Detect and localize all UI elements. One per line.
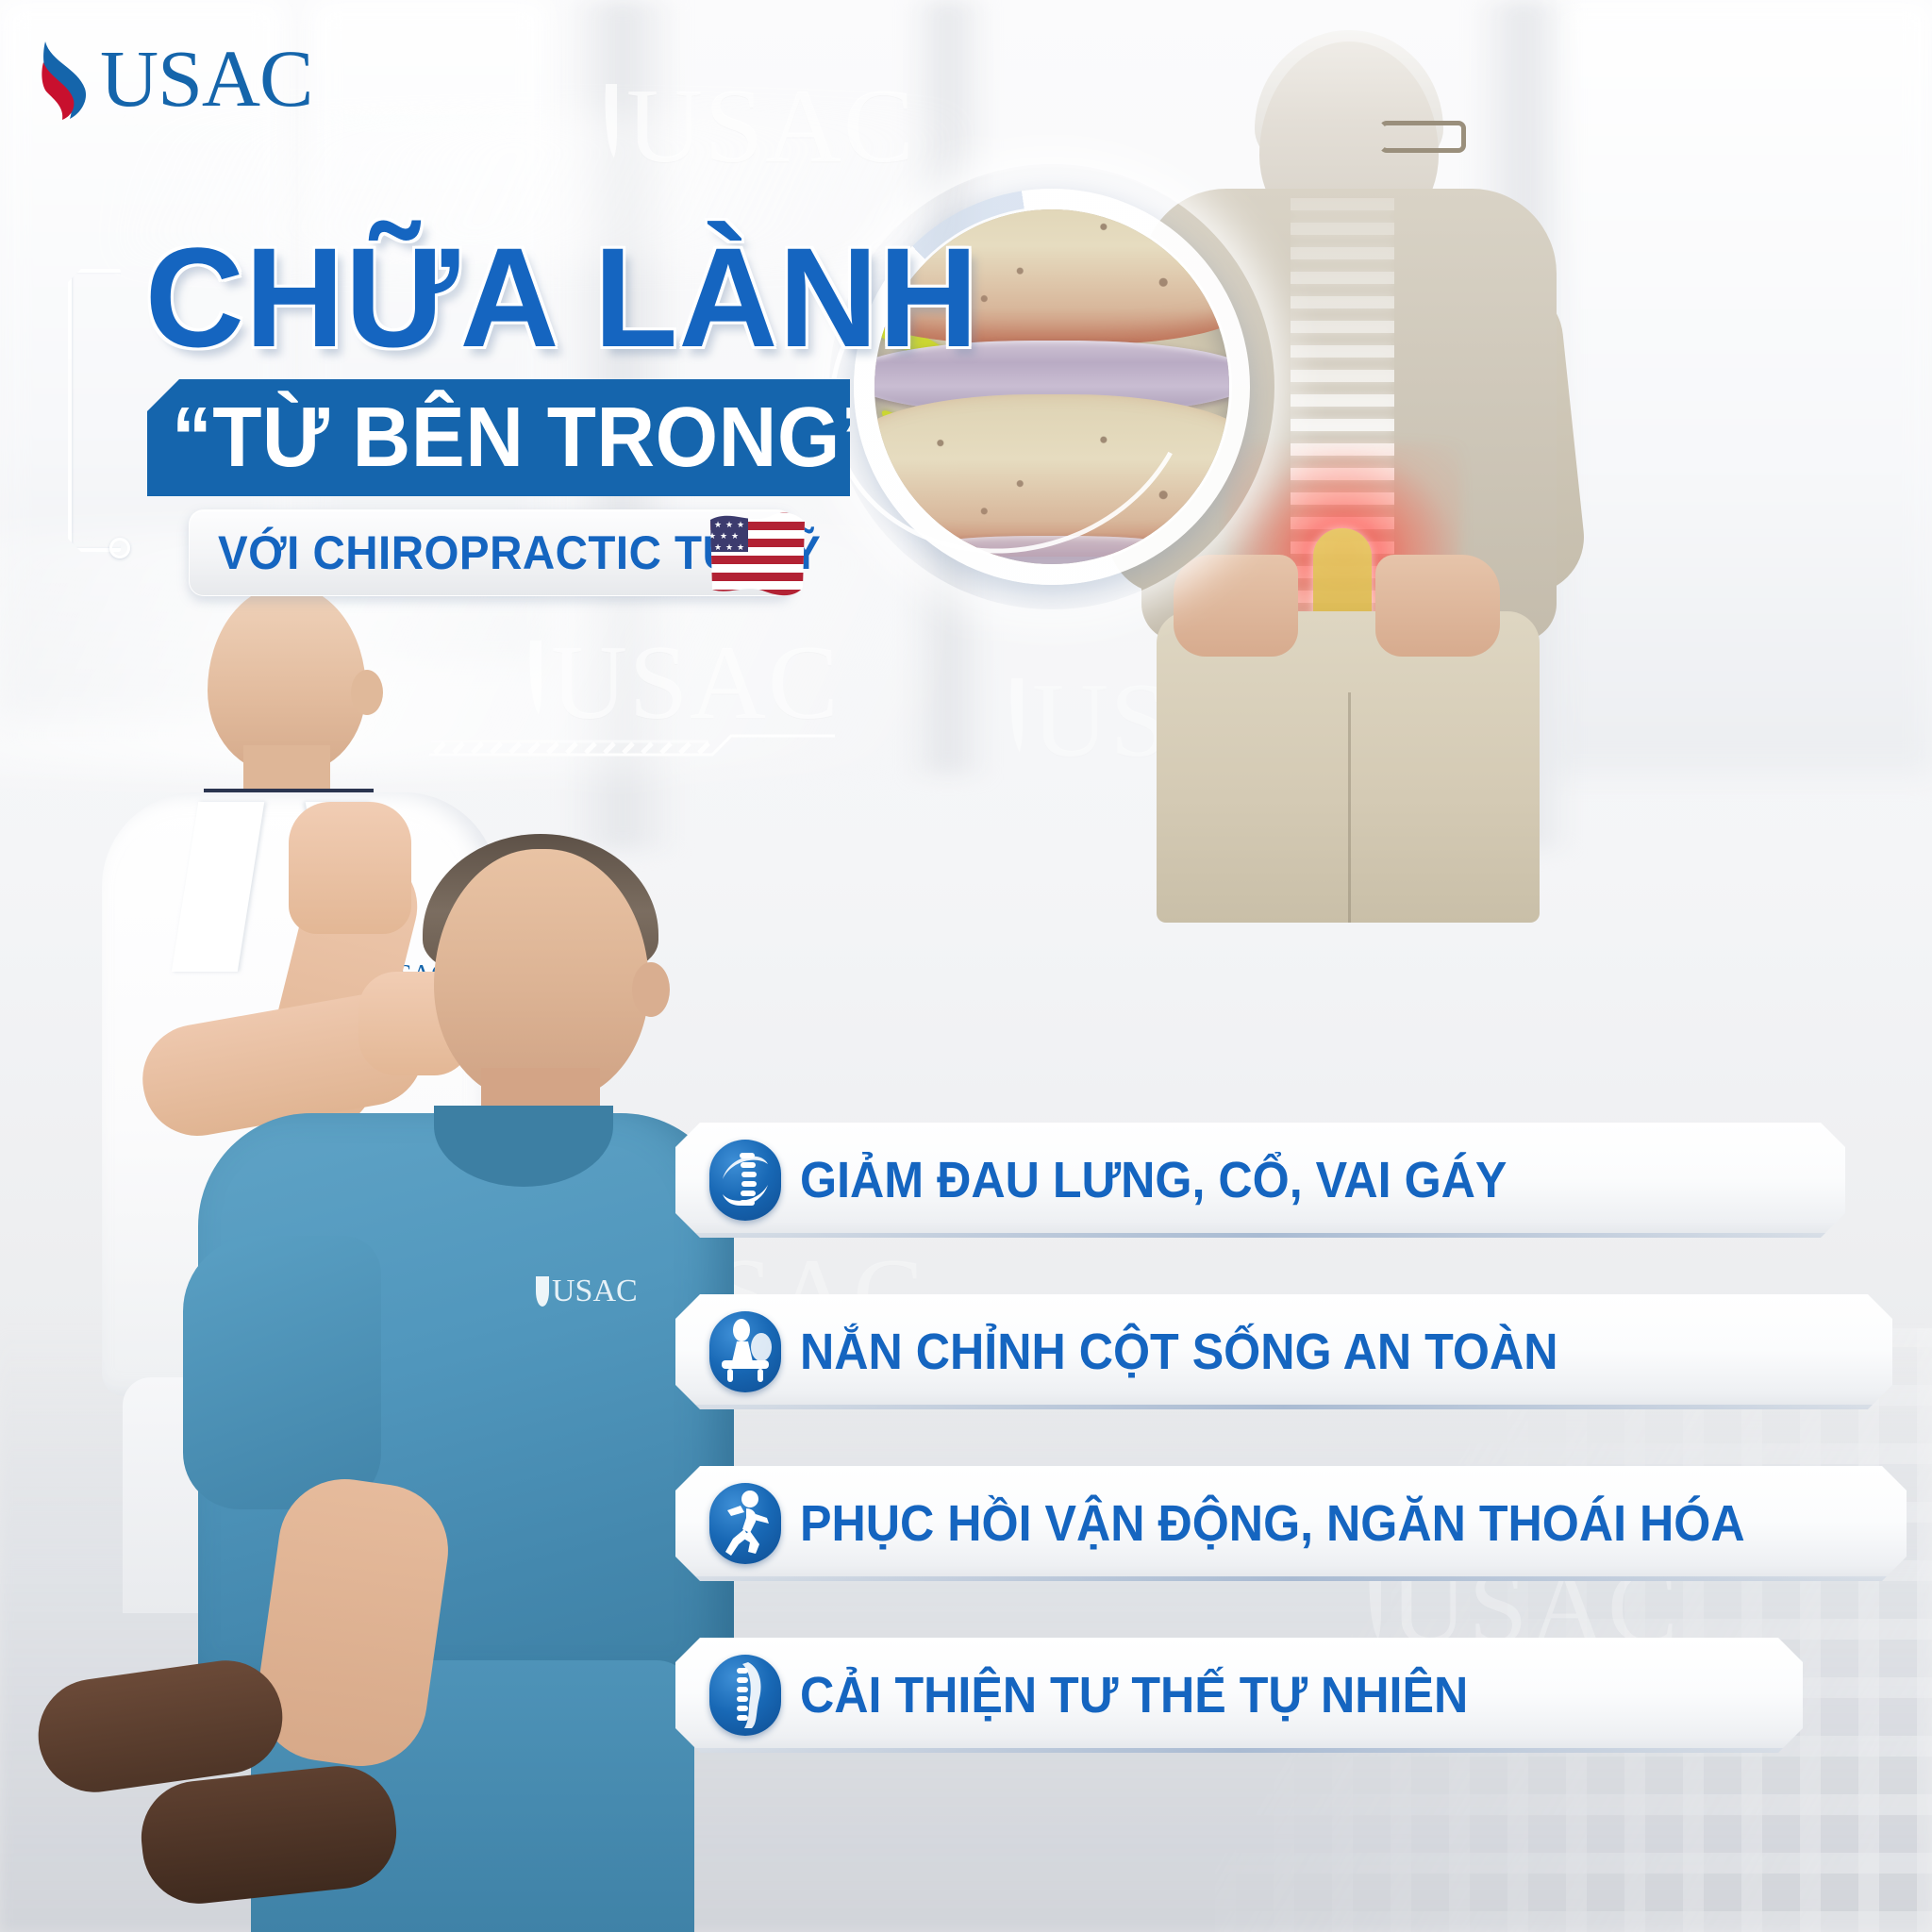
benefit-row[interactable]: PHỤC HỒI VẬN ĐỘNG, NGĂN THOÁI HÓA <box>675 1466 1907 1581</box>
usac-flame-icon <box>38 38 94 121</box>
headline-line-1: CHỮA LÀNH <box>75 226 936 368</box>
patient-gown-usac-logo: USAC <box>536 1274 638 1309</box>
svg-text:★: ★ <box>708 531 716 541</box>
svg-text:★: ★ <box>714 520 722 529</box>
benefit-label: GIẢM ĐAU LƯNG, CỔ, VAI GÁY <box>800 1155 1507 1206</box>
us-flag-icon: ★★★ ★★★ ★★★ ★★★ <box>705 505 808 603</box>
svg-text:★: ★ <box>731 531 739 541</box>
svg-text:★: ★ <box>720 531 727 541</box>
headline-block: CHỮA LÀNH “TỪ BÊN TRONG” VỚI CHIROPRACTI… <box>75 226 962 596</box>
svg-text:★: ★ <box>737 520 744 529</box>
svg-text:★: ★ <box>725 542 733 552</box>
usac-logo-text: USAC <box>100 42 312 115</box>
svg-text:★: ★ <box>714 542 722 552</box>
benefit-row[interactable]: GIẢM ĐAU LƯNG, CỔ, VAI GÁY <box>675 1123 1845 1238</box>
benefit-row[interactable]: NẮN CHỈNH CỘT SỐNG AN TOÀN <box>675 1294 1892 1409</box>
adjustment-table-icon <box>709 1311 781 1392</box>
svg-text:★: ★ <box>720 508 727 518</box>
svg-text:★: ★ <box>737 542 744 552</box>
spine-swoosh-icon <box>709 1140 781 1221</box>
running-person-icon <box>709 1483 781 1564</box>
svg-text:★: ★ <box>725 520 733 529</box>
headline-quote-banner: “TỪ BÊN TRONG” <box>147 379 850 496</box>
poster-canvas: USAC USAC USAC USAC USAC USAC USAC USAC <box>0 0 1932 1932</box>
posture-spine-icon <box>709 1655 781 1736</box>
treatment-chair <box>38 1660 415 1932</box>
decorative-bracket-dot <box>109 538 130 558</box>
benefit-label: NẮN CHỈNH CỘT SỐNG AN TOÀN <box>800 1326 1558 1377</box>
headline-line-2: “TỪ BÊN TRONG” <box>172 395 881 480</box>
benefit-label: PHỤC HỒI VẬN ĐỘNG, NGĂN THOÁI HÓA <box>800 1498 1745 1549</box>
benefit-row[interactable]: CẢI THIỆN TƯ THẾ TỰ NHIÊN <box>675 1638 1803 1753</box>
svg-text:★: ★ <box>708 508 716 518</box>
usac-logo[interactable]: USAC <box>38 38 312 121</box>
svg-text:★: ★ <box>731 508 739 518</box>
tech-hatched-bar <box>429 726 835 764</box>
benefit-label: CẢI THIỆN TƯ THẾ TỰ NHIÊN <box>800 1670 1468 1721</box>
headline-subtitle-pill: VỚI CHIROPRACTIC TỪ MỸ <box>189 509 792 596</box>
benefits-list: GIẢM ĐAU LƯNG, CỔ, VAI GÁY NẮN CHỈNH CỘT… <box>675 1123 1911 1809</box>
